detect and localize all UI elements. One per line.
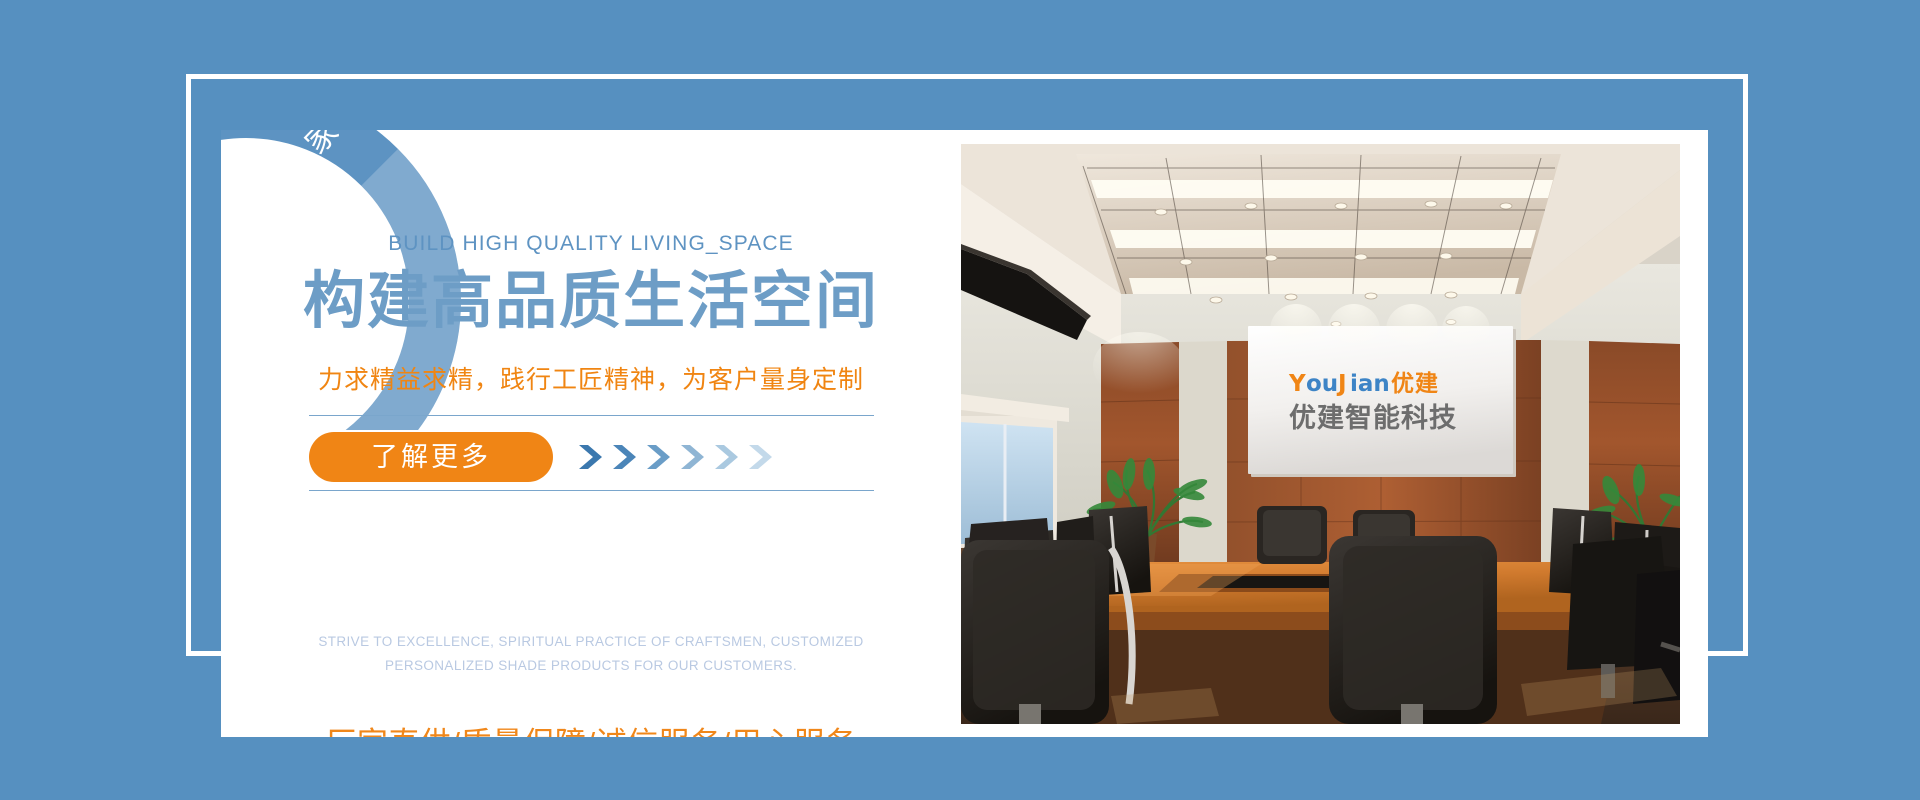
fineprint-line-1: STRIVE TO EXCELLENCE, SPIRITUAL PRACTICE… [301, 630, 881, 654]
chevron-right-icon [609, 440, 643, 474]
chevron-arrow-group [575, 440, 779, 474]
learn-more-button[interactable]: 了解更多 [309, 432, 553, 482]
svg-text:ou: ou [1306, 371, 1338, 397]
banner-stage: 厂 家 直 供 BUILD HIGH QUALITY LIVING_SPACE … [0, 0, 1920, 800]
chevron-right-icon [711, 440, 745, 474]
eyebrow-text: BUILD HIGH QUALITY LIVING_SPACE [221, 232, 961, 256]
feature-list-text: 厂家直供/质量保障/诚信服务/用心服务 [221, 718, 961, 737]
foreground-chair-center [1329, 536, 1497, 724]
conference-room-photo: Y ou J ian 优建 优建智能科技 [961, 144, 1680, 724]
svg-text:ian: ian [1350, 371, 1390, 397]
subtitle-text: 力求精益求精，践行工匠精神，为客户量身定制 [221, 360, 961, 396]
content-card: 厂 家 直 供 BUILD HIGH QUALITY LIVING_SPACE … [221, 130, 1708, 737]
chevron-right-icon [677, 440, 711, 474]
fineprint-line-2: PERSONALIZED SHADE PRODUCTS FOR OUR CUST… [301, 654, 881, 678]
foreground-chair-left [961, 540, 1132, 724]
svg-text:优建智能科技: 优建智能科技 [1289, 402, 1457, 434]
cta-row: 了解更多 [309, 432, 874, 482]
chevron-right-icon [575, 440, 609, 474]
divider-top [309, 415, 874, 416]
svg-text:J: J [1336, 371, 1347, 397]
divider-bottom [309, 490, 874, 491]
chevron-right-icon [745, 440, 779, 474]
chevron-right-icon [643, 440, 677, 474]
svg-text:优建: 优建 [1391, 371, 1439, 397]
left-text-column: BUILD HIGH QUALITY LIVING_SPACE 构建高品质生活空… [221, 130, 961, 737]
svg-text:Y: Y [1288, 371, 1306, 397]
conference-room-illustration: Y ou J ian 优建 优建智能科技 [961, 144, 1680, 724]
page-title: 构建高品质生活空间 [221, 266, 961, 337]
fineprint-text: STRIVE TO EXCELLENCE, SPIRITUAL PRACTICE… [301, 630, 881, 677]
